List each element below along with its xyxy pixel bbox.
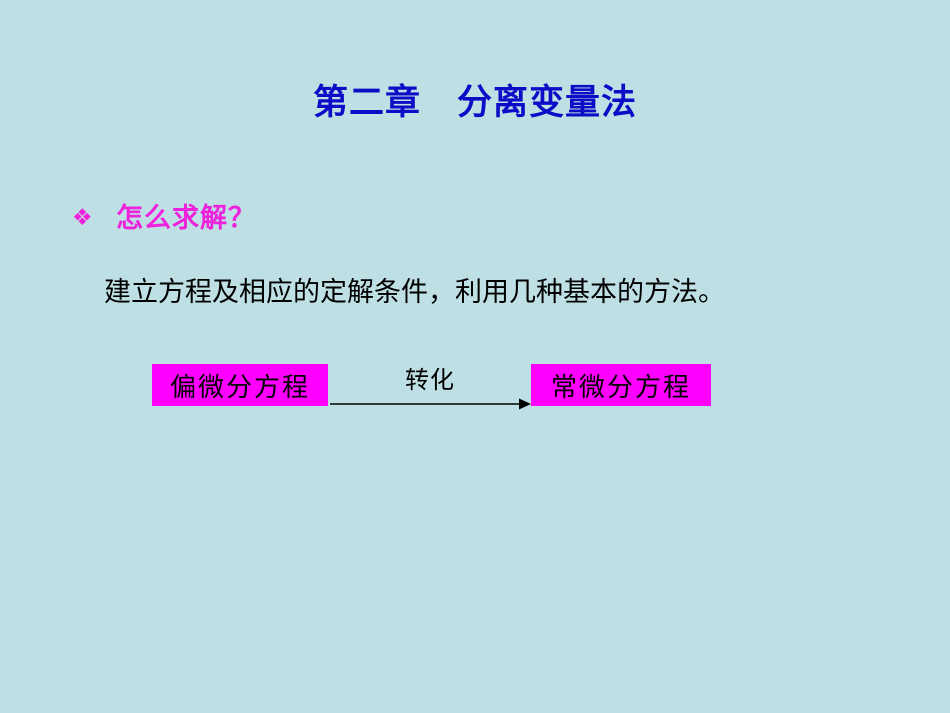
- flow-box-ordinary-differential-equation: 常微分方程: [531, 364, 711, 406]
- body-paragraph: 建立方程及相应的定解条件，利用几种基本的方法。: [104, 276, 725, 310]
- flow-box-partial-differential-equation: 偏微分方程: [152, 364, 328, 406]
- presentation-slide: 第二章 分离变量法 ❖ 怎么求解？ 建立方程及相应的定解条件，利用几种基本的方法…: [0, 0, 950, 713]
- slide-title: 第二章 分离变量法: [0, 84, 950, 123]
- diamond-bullet-icon: ❖: [72, 207, 116, 230]
- flow-arrow-label: 转化: [330, 360, 530, 395]
- bullet-heading-text: 怎么求解？: [116, 204, 256, 234]
- bullet-heading-row: ❖ 怎么求解？: [72, 204, 256, 234]
